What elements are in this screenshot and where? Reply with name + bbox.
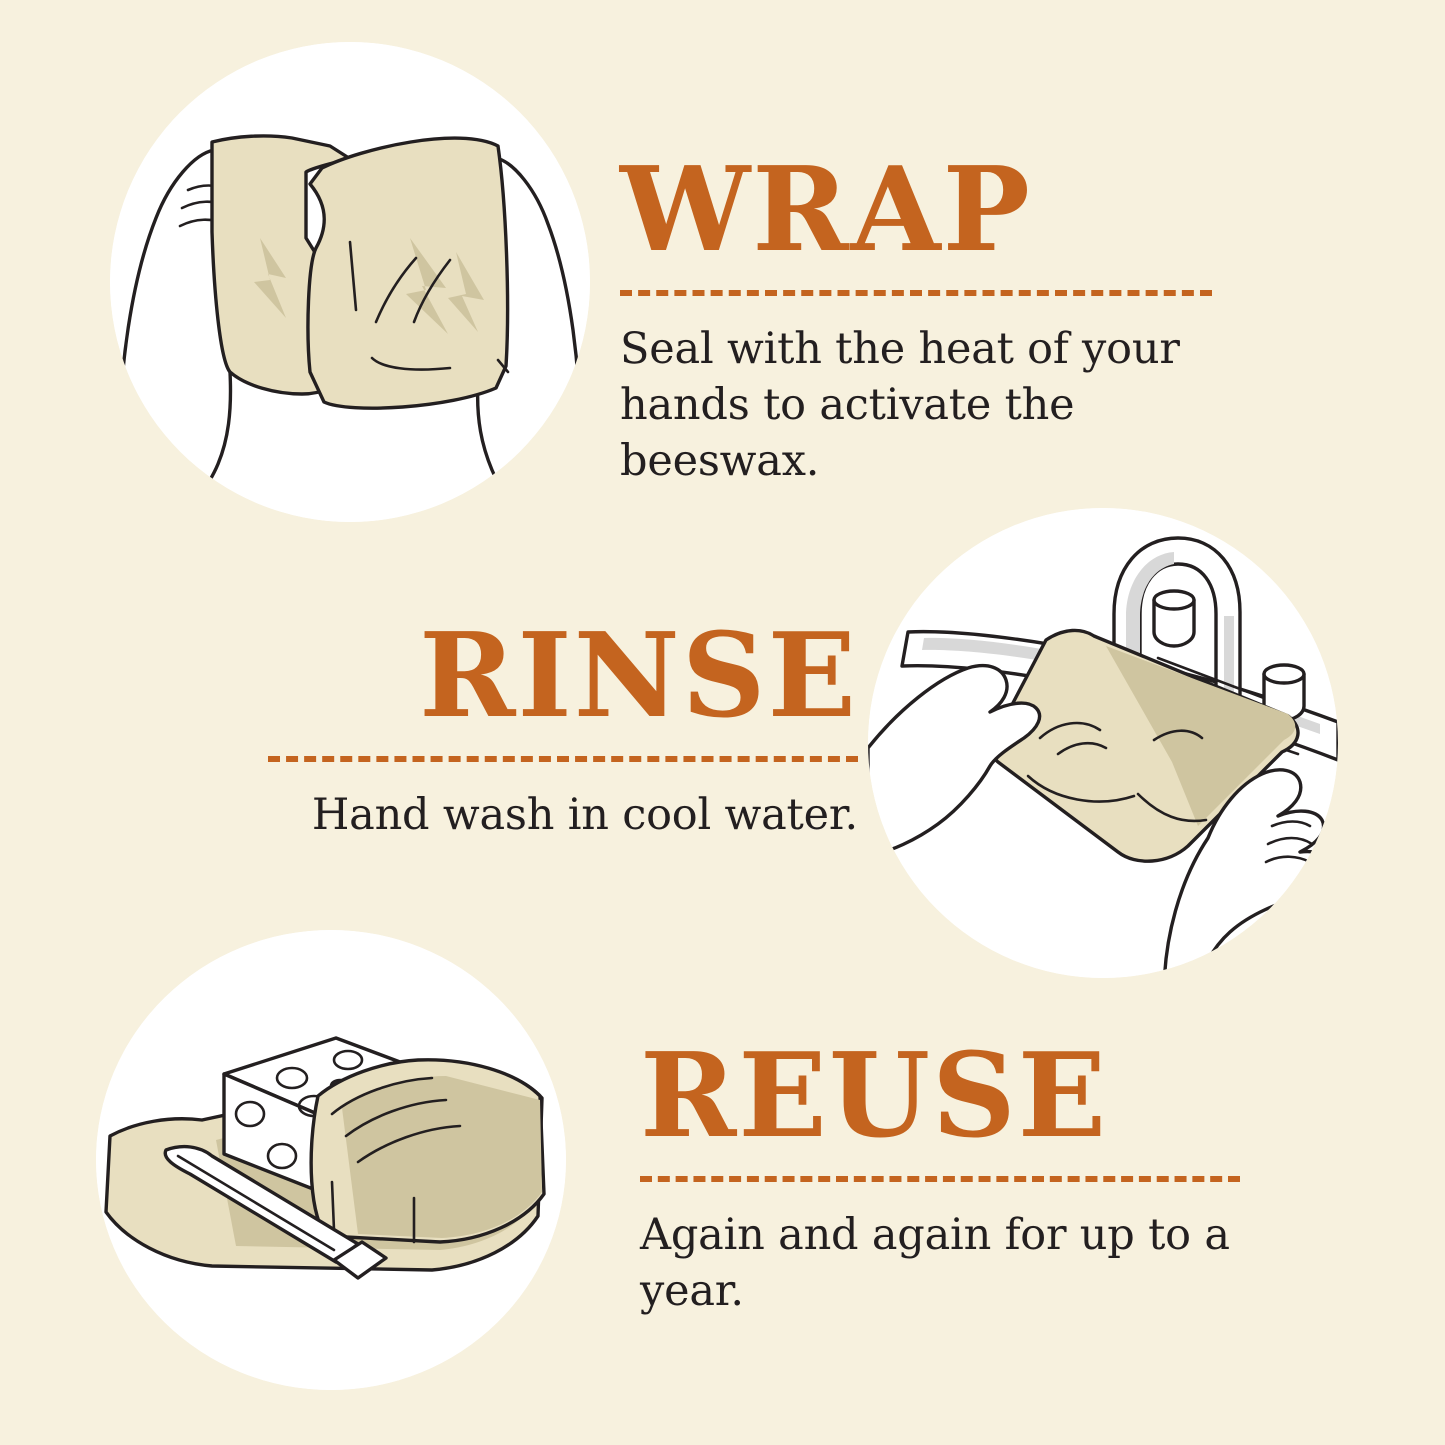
step-block-rinse: RINSE Hand wash in cool water.: [258, 618, 858, 844]
wrap-illustration-circle: [110, 42, 590, 522]
divider-rinse: [268, 756, 858, 762]
step-body-rinse: Hand wash in cool water.: [268, 788, 858, 844]
step-body-reuse: Again and again for up to a year.: [640, 1208, 1230, 1320]
infographic-canvas: WRAP Seal with the heat of your hands to…: [0, 0, 1445, 1445]
reuse-illustration-circle: [96, 930, 566, 1390]
step-block-wrap: WRAP Seal with the heat of your hands to…: [620, 152, 1220, 490]
step-heading-wrap: WRAP: [620, 152, 1220, 268]
divider-wrap: [620, 290, 1212, 296]
step-body-wrap: Seal with the heat of your hands to acti…: [620, 322, 1205, 490]
step-block-reuse: REUSE Again and again for up to a year.: [640, 1038, 1240, 1320]
step-heading-reuse: REUSE: [640, 1038, 1240, 1154]
divider-reuse: [640, 1176, 1240, 1182]
step-heading-rinse: RINSE: [258, 618, 858, 734]
rinse-illustration-circle: [868, 508, 1338, 978]
